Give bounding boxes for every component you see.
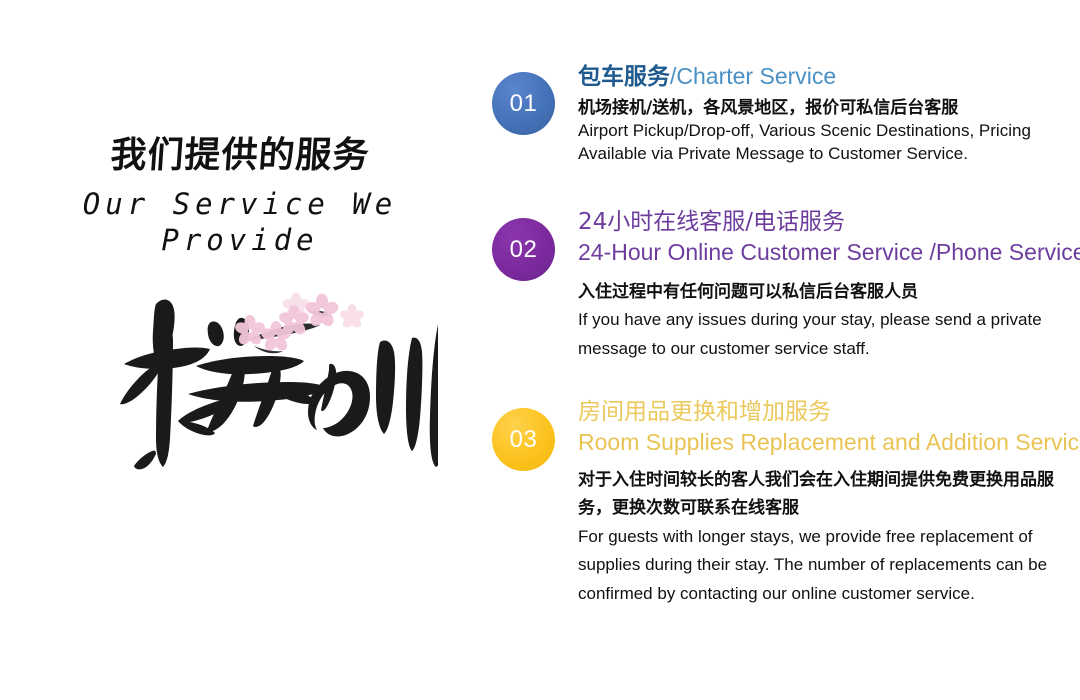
cherry-blossom-branch-icon xyxy=(234,293,365,354)
service-body-03-en-line-1: For guests with longer stays, we provide… xyxy=(578,523,1080,552)
service-content-03: 房间用品更换和增加服务 Room Supplies Replacement an… xyxy=(578,398,1080,609)
brand-logo: 桜の川 xyxy=(118,268,438,494)
service-body-02-cn-line-1: 入住过程中有任何问题可以私信后台客服人员 xyxy=(578,278,1080,307)
service-heading-01: 包车服务/Charter Service xyxy=(578,62,1080,93)
service-content-01: 包车服务/Charter Service 机场接机/送机，各风景地区，报价可私信… xyxy=(578,62,1080,166)
services-list: 01 包车服务/Charter Service 机场接机/送机，各风景地区，报价… xyxy=(492,0,1080,700)
service-number-badge-01: 01 xyxy=(492,72,555,135)
service-infographic-page: 我们提供的服务 Our Service We Provide 桜の川 xyxy=(0,0,1080,700)
service-body-03: 对于入住时间较长的客人我们会在入住期间提供免费更换用品服 务，更换次数可联系在线… xyxy=(578,466,1080,609)
page-title-chinese: 我们提供的服务 xyxy=(0,136,481,176)
service-body-03-cn-line-2: 务，更换次数可联系在线客服 xyxy=(578,494,1080,523)
kana-no-icon xyxy=(308,364,370,437)
service-body-03-en-line-2: supplies during their stay. The number o… xyxy=(578,551,1080,580)
service-body-01: 机场接机/送机，各风景地区，报价可私信后台客服 Airport Pickup/D… xyxy=(578,97,1080,166)
service-heading-01-chinese: 包车服务 xyxy=(578,64,670,90)
left-brand-panel: 我们提供的服务 Our Service We Provide 桜の川 xyxy=(0,0,480,700)
service-content-02: 24小时在线客服/电话服务 24-Hour Online Customer Se… xyxy=(578,208,1080,363)
kanji-kawa-icon xyxy=(376,315,438,467)
service-number-badge-03: 03 xyxy=(492,408,555,471)
service-heading-02-chinese: 24小时在线客服/电话服务 xyxy=(578,208,1080,238)
service-heading-02: 24小时在线客服/电话服务 24-Hour Online Customer Se… xyxy=(578,208,1080,268)
service-heading-03-english: Room Supplies Replacement and Addition S… xyxy=(578,428,1080,458)
service-heading-01-english: Charter Service xyxy=(676,63,836,89)
service-body-03-cn-line-1: 对于入住时间较长的客人我们会在入住期间提供免费更换用品服 xyxy=(578,466,1080,495)
page-title: 我们提供的服务 Our Service We Provide xyxy=(0,136,480,258)
service-number-badge-02: 02 xyxy=(492,218,555,281)
service-body-02: 入住过程中有任何问题可以私信后台客服人员 If you have any iss… xyxy=(578,278,1080,364)
page-title-english: Our Service We Provide xyxy=(0,186,480,259)
service-body-01-en-line-1: Airport Pickup/Drop-off, Various Scenic … xyxy=(578,120,1080,143)
service-body-03-en-line-3: confirmed by contacting our online custo… xyxy=(578,580,1080,609)
service-body-01-cn-line-1: 机场接机/送机，各风景地区，报价可私信后台客服 xyxy=(578,97,1080,120)
service-body-02-en-line-1: If you have any issues during your stay,… xyxy=(578,306,1080,335)
service-heading-02-english: 24-Hour Online Customer Service /Phone S… xyxy=(578,238,1080,268)
service-body-01-en-line-2: Available via Private Message to Custome… xyxy=(578,143,1080,166)
service-heading-03: 房间用品更换和增加服务 Room Supplies Replacement an… xyxy=(578,398,1080,458)
service-heading-03-chinese: 房间用品更换和增加服务 xyxy=(578,398,1080,428)
service-body-02-en-line-2: message to our customer service staff. xyxy=(578,335,1080,364)
